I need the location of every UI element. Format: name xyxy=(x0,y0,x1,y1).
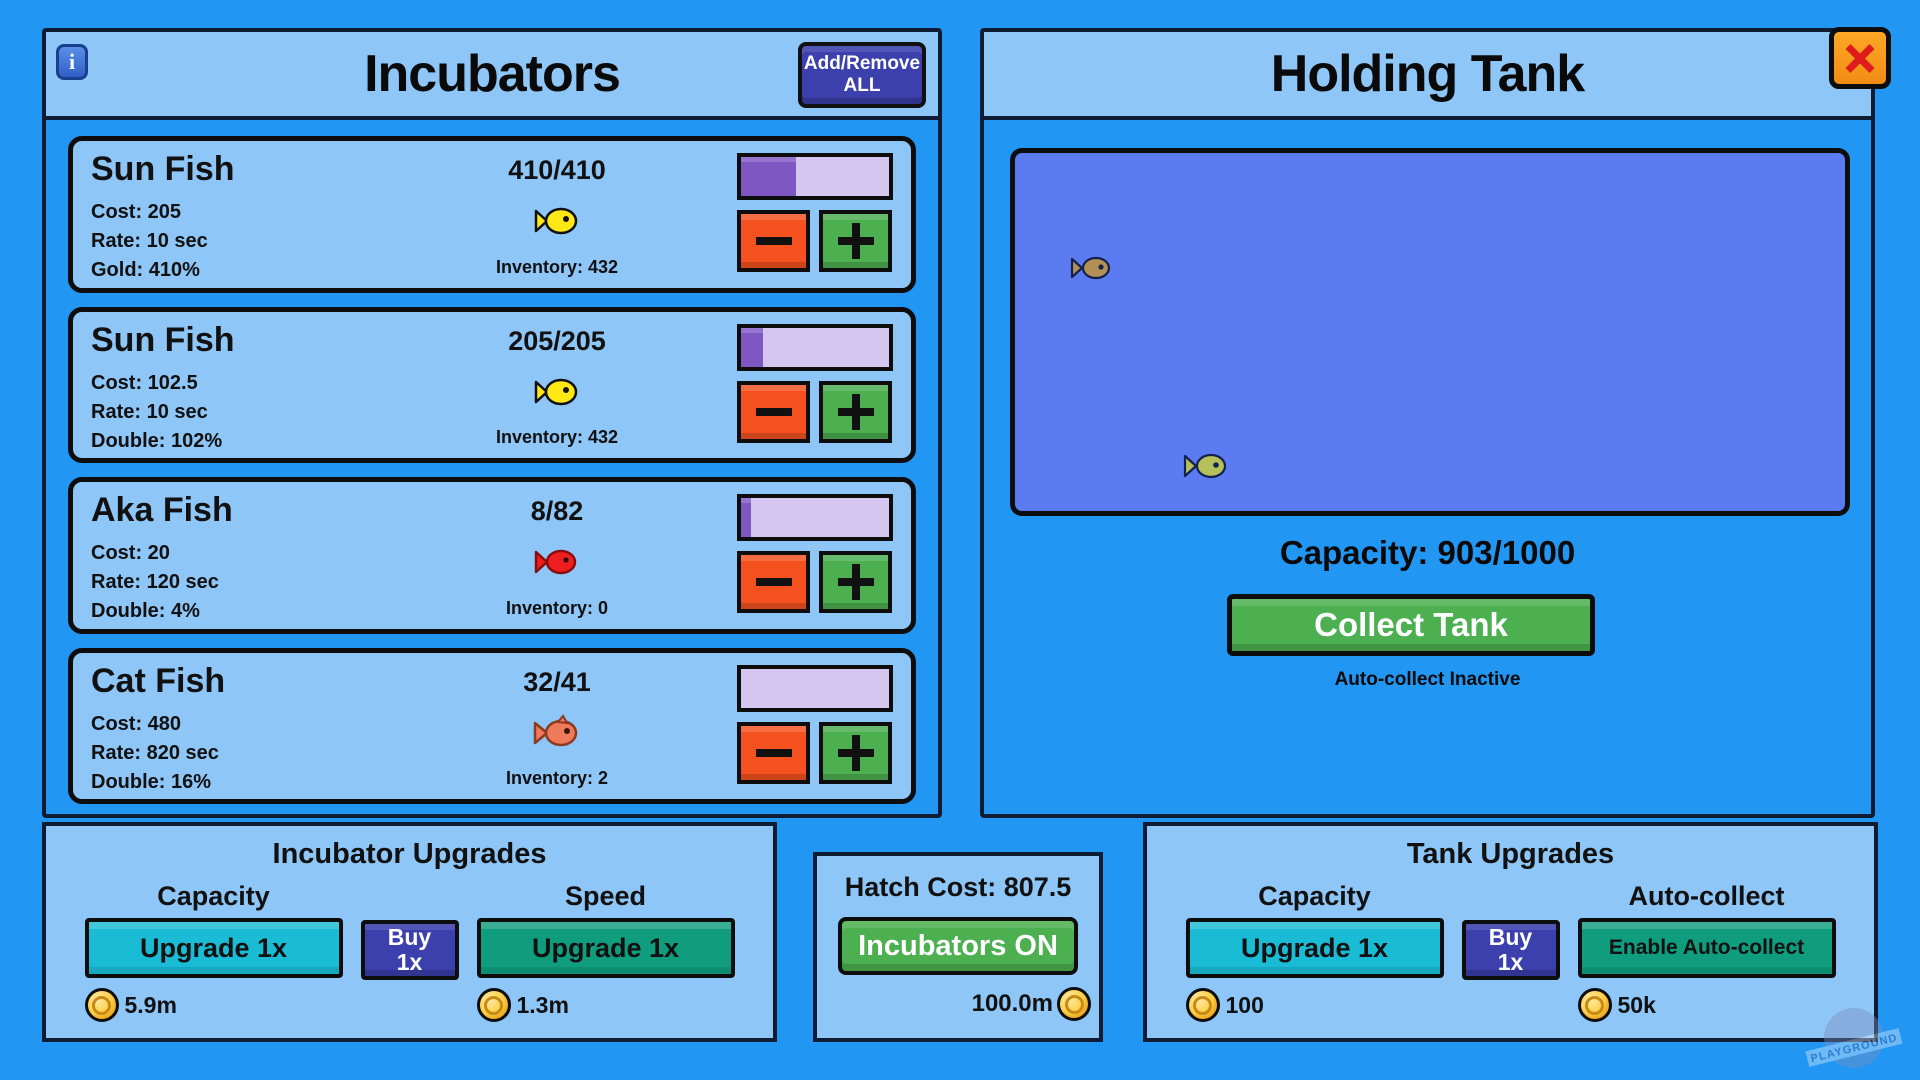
incubator-info: Sun Fish Cost: 102.5 Rate: 10 sec Double… xyxy=(91,322,235,456)
incubator-row[interactable]: Sun Fish Cost: 205 Rate: 10 sec Gold: 41… xyxy=(68,136,916,293)
incubators-title: Incubators xyxy=(364,48,620,100)
minus-icon xyxy=(756,223,792,259)
incubator-buy-label-line2: 1x xyxy=(397,950,423,975)
incubator-progress-bar xyxy=(737,494,893,541)
holding-tank-title: Holding Tank xyxy=(1271,48,1584,100)
coin-icon xyxy=(85,988,119,1022)
tank-capacity-cost-value: 100 xyxy=(1226,992,1264,1019)
sun-fish-icon xyxy=(534,186,580,257)
remove-incubator-button[interactable] xyxy=(737,210,810,272)
add-remove-all-label-line1: Add/Remove xyxy=(804,53,920,75)
fish-glyph xyxy=(534,545,580,579)
tank-fish-1 xyxy=(1070,253,1116,283)
tank-upgrades-columns: Capacity Upgrade 1x 100 Buy 1x Auto-coll… xyxy=(1147,881,1874,1022)
incubator-stat-bonus: Gold: 410% xyxy=(91,256,235,285)
incubator-speed-column: Speed Upgrade 1x 1.3m xyxy=(477,881,735,1022)
incubator-capacity-upgrade-label: Upgrade 1x xyxy=(140,933,287,964)
incubator-controls xyxy=(737,153,893,272)
playground-watermark: PLAYGROUND xyxy=(1792,1004,1912,1076)
holding-tank-panel: Holding Tank Capacity: 903/1000 Collect … xyxy=(980,28,1875,818)
enable-auto-collect-label: Enable Auto-collect xyxy=(1609,936,1804,960)
incubator-inventory: Inventory: 0 xyxy=(506,598,608,623)
incubators-panel: i Incubators Add/Remove ALL Sun Fish Cos… xyxy=(42,28,942,818)
incubator-stat-bonus: Double: 16% xyxy=(91,768,225,797)
tank-capacity-cost: 100 xyxy=(1186,988,1444,1022)
coin-icon xyxy=(1186,988,1220,1022)
hatch-panel: Hatch Cost: 807.5 Incubators ON 100.0m xyxy=(813,852,1103,1042)
incubator-info: Aka Fish Cost: 20 Rate: 120 sec Double: … xyxy=(91,492,233,626)
incubator-stat-cost: Cost: 205 xyxy=(91,198,235,227)
remove-incubator-button[interactable] xyxy=(737,722,810,784)
tank-upgrades-title: Tank Upgrades xyxy=(1147,838,1874,871)
incubator-progress-bar xyxy=(737,324,893,371)
incubator-stat-rate: Rate: 10 sec xyxy=(91,227,235,256)
incubator-stat-cost: Cost: 102.5 xyxy=(91,369,235,398)
incubators-header: i Incubators Add/Remove ALL xyxy=(46,32,938,120)
incubators-power-toggle[interactable]: Incubators ON xyxy=(838,917,1078,975)
incubator-buy-column: Buy 1x xyxy=(361,881,459,980)
minus-icon xyxy=(756,394,792,430)
incubators-power-label: Incubators ON xyxy=(858,930,1058,963)
incubator-upgrades-title: Incubator Upgrades xyxy=(46,838,773,871)
tank-buy-column: Buy 1x xyxy=(1462,881,1560,980)
hatch-cost-label: Hatch Cost: 807.5 xyxy=(817,872,1099,903)
incubator-buttons xyxy=(737,551,893,613)
tank-autocollect-column: Auto-collect Enable Auto-collect 50k xyxy=(1578,881,1836,1022)
tank-buy-multiplier-button[interactable]: Buy 1x xyxy=(1462,920,1560,980)
incubator-buttons xyxy=(737,722,893,784)
remove-incubator-button[interactable] xyxy=(737,551,810,613)
incubator-controls xyxy=(737,665,893,784)
tank-capacity-upgrade-label: Upgrade 1x xyxy=(1241,933,1388,964)
cat-fish-icon xyxy=(532,698,582,769)
close-icon[interactable] xyxy=(1829,27,1891,89)
incubator-capacity-upgrade-button[interactable]: Upgrade 1x xyxy=(85,918,343,978)
incubator-buttons xyxy=(737,381,893,443)
incubator-progress-bar xyxy=(737,153,893,200)
incubator-stat-rate: Rate: 10 sec xyxy=(91,398,235,427)
incubator-progress-fill xyxy=(741,498,751,537)
incubator-name: Sun Fish xyxy=(91,151,235,188)
remove-incubator-button[interactable] xyxy=(737,381,810,443)
coin-icon xyxy=(1578,988,1612,1022)
incubator-inventory: Inventory: 432 xyxy=(496,427,618,452)
incubator-speed-label: Speed xyxy=(477,881,735,912)
incubator-name: Sun Fish xyxy=(91,322,235,359)
incubator-progress-fill xyxy=(741,157,796,196)
plus-icon xyxy=(838,735,874,771)
incubator-row[interactable]: Aka Fish Cost: 20 Rate: 120 sec Double: … xyxy=(68,477,916,634)
incubator-buy-multiplier-button[interactable]: Buy 1x xyxy=(361,920,459,980)
incubator-capacity-label: Capacity xyxy=(85,881,343,912)
incubator-speed-upgrade-label: Upgrade 1x xyxy=(532,933,679,964)
incubator-progress-bar xyxy=(737,665,893,712)
fish-glyph xyxy=(534,375,580,409)
incubator-buttons xyxy=(737,210,893,272)
minus-icon xyxy=(756,564,792,600)
gold-balance-value: 100.0m xyxy=(972,990,1053,1018)
incubator-name: Cat Fish xyxy=(91,663,225,700)
incubator-stat-cost: Cost: 20 xyxy=(91,539,233,568)
add-remove-all-label-line2: ALL xyxy=(844,75,881,97)
incubator-center: 32/41 Inventory: 2 xyxy=(403,661,711,794)
fish-glyph xyxy=(532,714,582,752)
info-icon[interactable]: i xyxy=(56,44,88,80)
collect-tank-label: Collect Tank xyxy=(1314,606,1508,644)
incubator-count: 8/82 xyxy=(531,490,584,527)
add-incubator-button[interactable] xyxy=(819,381,892,443)
tank-capacity-upgrade-button[interactable]: Upgrade 1x xyxy=(1186,918,1444,978)
incubator-stat-bonus: Double: 4% xyxy=(91,597,233,626)
incubator-row[interactable]: Cat Fish Cost: 480 Rate: 820 sec Double:… xyxy=(68,648,916,805)
incubator-center: 8/82 Inventory: 0 xyxy=(403,490,711,623)
coin-icon xyxy=(477,988,511,1022)
incubator-progress-fill xyxy=(741,328,763,367)
incubator-upgrades-panel: Incubator Upgrades Capacity Upgrade 1x 5… xyxy=(42,822,777,1042)
incubator-speed-upgrade-button[interactable]: Upgrade 1x xyxy=(477,918,735,978)
tank-capacity-label: Capacity xyxy=(1186,881,1444,912)
add-incubator-button[interactable] xyxy=(819,551,892,613)
tank-buy-label-line1: Buy xyxy=(1489,925,1532,950)
plus-icon xyxy=(838,223,874,259)
tank-buy-label-line2: 1x xyxy=(1498,950,1524,975)
incubator-capacity-cost: 5.9m xyxy=(85,988,343,1022)
holding-tank-header: Holding Tank xyxy=(984,32,1871,120)
aka-fish-icon xyxy=(534,527,580,598)
incubator-stat-bonus: Double: 102% xyxy=(91,427,235,456)
incubator-capacity-column: Capacity Upgrade 1x 5.9m xyxy=(85,881,343,1022)
incubator-controls xyxy=(737,324,893,443)
sun-fish-icon xyxy=(534,357,580,428)
incubator-list: Sun Fish Cost: 205 Rate: 10 sec Gold: 41… xyxy=(46,124,938,814)
close-x-glyph xyxy=(1843,41,1877,75)
minus-icon xyxy=(756,735,792,771)
incubator-inventory: Inventory: 432 xyxy=(496,257,618,282)
tank-capacity-column: Capacity Upgrade 1x 100 xyxy=(1186,881,1444,1022)
incubator-info: Sun Fish Cost: 205 Rate: 10 sec Gold: 41… xyxy=(91,151,235,285)
incubator-count: 32/41 xyxy=(523,661,591,698)
tank-autocollect-label: Auto-collect xyxy=(1578,881,1836,912)
tank-capacity-label: Capacity: 903/1000 xyxy=(984,534,1871,572)
incubator-speed-cost: 1.3m xyxy=(477,988,735,1022)
auto-collect-status: Auto-collect Inactive xyxy=(984,669,1871,691)
game-screen: i Incubators Add/Remove ALL Sun Fish Cos… xyxy=(0,0,1920,1080)
incubator-capacity-cost-value: 5.9m xyxy=(125,992,177,1019)
incubator-count: 410/410 xyxy=(508,149,606,186)
add-incubator-button[interactable] xyxy=(819,210,892,272)
incubator-info: Cat Fish Cost: 480 Rate: 820 sec Double:… xyxy=(91,663,225,797)
collect-tank-button[interactable]: Collect Tank xyxy=(1227,594,1595,656)
plus-icon xyxy=(838,394,874,430)
fish-glyph xyxy=(534,204,580,238)
add-incubator-button[interactable] xyxy=(819,722,892,784)
incubator-stat-cost: Cost: 480 xyxy=(91,710,225,739)
coin-icon xyxy=(1057,987,1091,1021)
incubator-stat-rate: Rate: 820 sec xyxy=(91,739,225,768)
incubator-count: 205/205 xyxy=(508,320,606,357)
tank-upgrades-panel: Tank Upgrades Capacity Upgrade 1x 100 Bu… xyxy=(1143,822,1878,1042)
incubator-row[interactable]: Sun Fish Cost: 102.5 Rate: 10 sec Double… xyxy=(68,307,916,464)
incubator-inventory: Inventory: 2 xyxy=(506,768,608,793)
incubator-speed-cost-value: 1.3m xyxy=(517,992,569,1019)
tank-fish-2 xyxy=(1183,450,1233,482)
incubator-stat-rate: Rate: 120 sec xyxy=(91,568,233,597)
gold-balance: 100.0m xyxy=(817,987,1099,1021)
enable-auto-collect-button[interactable]: Enable Auto-collect xyxy=(1578,918,1836,978)
tank-water-area[interactable] xyxy=(1010,148,1850,516)
incubator-center: 205/205 Inventory: 432 xyxy=(403,320,711,453)
incubator-center: 410/410 Inventory: 432 xyxy=(403,149,711,282)
plus-icon xyxy=(838,564,874,600)
incubator-name: Aka Fish xyxy=(91,492,233,529)
tank-autocollect-cost-value: 50k xyxy=(1618,992,1656,1019)
add-remove-all-button[interactable]: Add/Remove ALL xyxy=(798,42,926,108)
incubator-upgrades-columns: Capacity Upgrade 1x 5.9m Buy 1x Speed Up xyxy=(46,881,773,1022)
incubator-buy-label-line1: Buy xyxy=(388,925,431,950)
incubator-controls xyxy=(737,494,893,613)
